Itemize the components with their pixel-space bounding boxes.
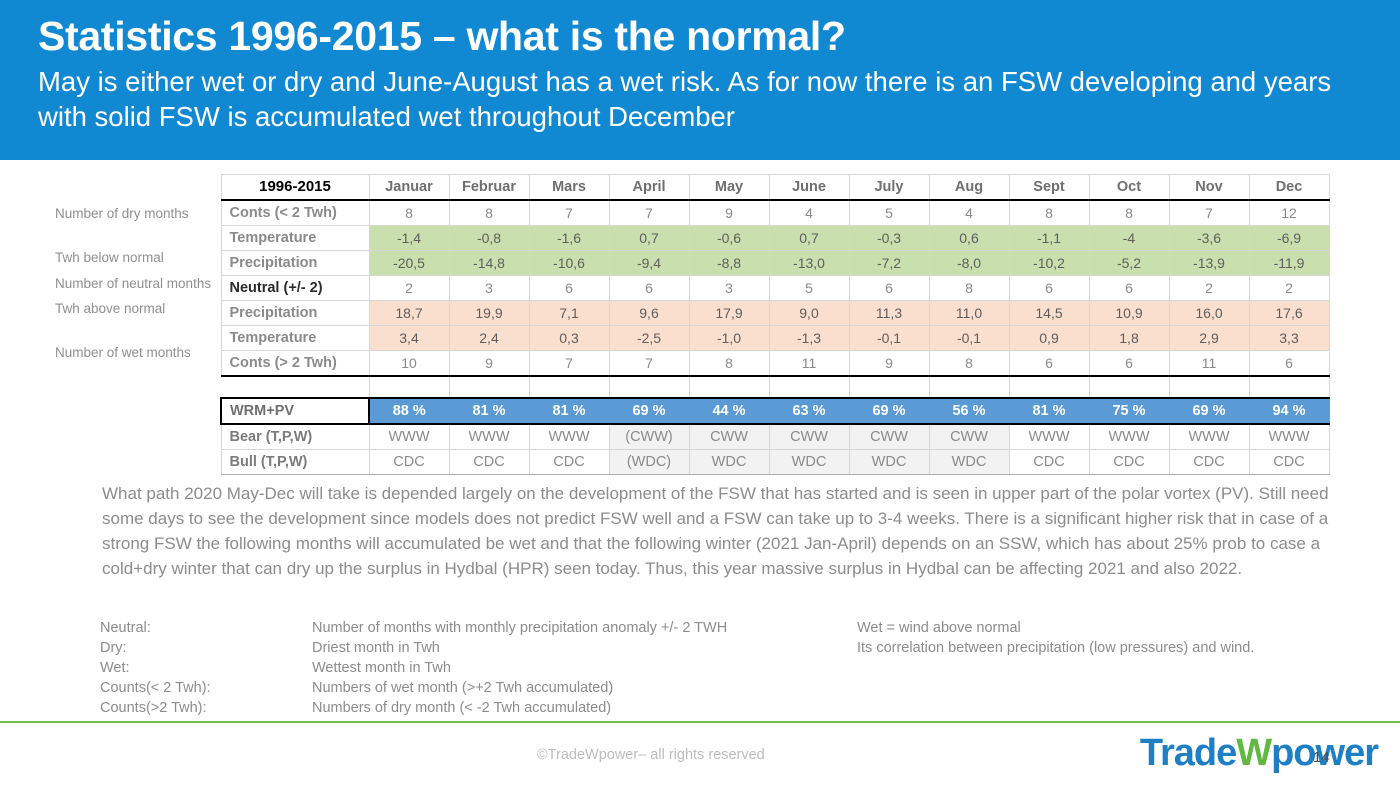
cell: -14,8 bbox=[449, 251, 529, 276]
spacer-cell bbox=[849, 376, 929, 398]
legend-term: Dry: bbox=[100, 638, 312, 658]
cell: 0,9 bbox=[1009, 326, 1089, 351]
cell: 3,3 bbox=[1249, 326, 1329, 351]
legend-note bbox=[857, 678, 1350, 698]
cell: 4 bbox=[769, 200, 849, 226]
legend-term: Counts(>2 Twh): bbox=[100, 698, 312, 718]
cell: -1,4 bbox=[369, 226, 449, 251]
row-label-temperature-above: Temperature bbox=[221, 326, 369, 351]
cell: -6,9 bbox=[1249, 226, 1329, 251]
cell: 5 bbox=[769, 276, 849, 301]
cell: -10,6 bbox=[529, 251, 609, 276]
legend-note bbox=[857, 658, 1350, 678]
cell: 7 bbox=[609, 200, 689, 226]
tradewpower-logo: TradeWpower bbox=[1140, 734, 1378, 772]
cell: -0,6 bbox=[689, 226, 769, 251]
legend-term: Neutral: bbox=[100, 618, 312, 638]
cell: 2,9 bbox=[1169, 326, 1249, 351]
legend-definition: Numbers of wet month (>+2 Twh accumulate… bbox=[312, 678, 857, 698]
cell: -1,6 bbox=[529, 226, 609, 251]
cell: 6 bbox=[529, 276, 609, 301]
annotation-twh-below: Twh below normal bbox=[55, 250, 164, 265]
table-header-row: 1996-2015 Januar Februar Mars April May … bbox=[221, 175, 1329, 201]
cell: 8 bbox=[449, 200, 529, 226]
cell: 17,9 bbox=[689, 301, 769, 326]
cell: 19,9 bbox=[449, 301, 529, 326]
legend-term: Wet: bbox=[100, 658, 312, 678]
cell: 18,7 bbox=[369, 301, 449, 326]
cell: 0,7 bbox=[769, 226, 849, 251]
cell: 12 bbox=[1249, 200, 1329, 226]
cell: 0,6 bbox=[929, 226, 1009, 251]
cell: 2 bbox=[369, 276, 449, 301]
bear-value: CWW bbox=[769, 424, 849, 450]
wrm-value: 75 % bbox=[1089, 398, 1169, 424]
bull-value: CDC bbox=[1249, 450, 1329, 475]
cell: -10,2 bbox=[1009, 251, 1089, 276]
wrm-value: 69 % bbox=[1169, 398, 1249, 424]
table-row: Conts (< 2 Twh) 8 8 7 7 9 4 5 4 8 8 7 12 bbox=[221, 200, 1329, 226]
cell: 0,7 bbox=[609, 226, 689, 251]
cell: 8 bbox=[1089, 200, 1169, 226]
cell: 4 bbox=[929, 200, 1009, 226]
bear-value: CWW bbox=[929, 424, 1009, 450]
cell: -0,3 bbox=[849, 226, 929, 251]
legend-block: Neutral: Number of months with monthly p… bbox=[100, 618, 1350, 718]
wrm-value: 94 % bbox=[1249, 398, 1329, 424]
page-subtitle: May is either wet or dry and June-August… bbox=[38, 65, 1368, 134]
legend-item: Wet: Wettest month in Twh bbox=[100, 658, 1350, 678]
cell: -0,1 bbox=[929, 326, 1009, 351]
wrm-value: 44 % bbox=[689, 398, 769, 424]
row-label-bull: Bull (T,P,W) bbox=[221, 450, 369, 475]
cell: 6 bbox=[1009, 276, 1089, 301]
spacer-cell bbox=[221, 376, 369, 398]
cell: 10,9 bbox=[1089, 301, 1169, 326]
row-label-wrm-pv: WRM+PV bbox=[221, 398, 369, 424]
row-label-bear: Bear (T,P,W) bbox=[221, 424, 369, 450]
table-row: Precipitation -20,5 -14,8 -10,6 -9,4 -8,… bbox=[221, 251, 1329, 276]
row-label-conts-gt2: Conts (> 2 Twh) bbox=[221, 351, 369, 377]
cell: 3 bbox=[449, 276, 529, 301]
legend-item: Counts(>2 Twh): Numbers of dry month (< … bbox=[100, 698, 1350, 718]
cell: -3,6 bbox=[1169, 226, 1249, 251]
cell: 8 bbox=[689, 351, 769, 377]
legend-item: Neutral: Number of months with monthly p… bbox=[100, 618, 1350, 638]
bull-value: CDC bbox=[529, 450, 609, 475]
cell: 7 bbox=[529, 351, 609, 377]
page-title: Statistics 1996-2015 – what is the norma… bbox=[38, 14, 1400, 60]
bear-value: WWW bbox=[449, 424, 529, 450]
slide: Statistics 1996-2015 – what is the norma… bbox=[0, 0, 1400, 788]
cell: -2,5 bbox=[609, 326, 689, 351]
cell: 11 bbox=[1169, 351, 1249, 377]
cell: 5 bbox=[849, 200, 929, 226]
legend-note bbox=[857, 698, 1350, 718]
column-header-july: July bbox=[849, 175, 929, 201]
cell: 10 bbox=[369, 351, 449, 377]
cell: 3,4 bbox=[369, 326, 449, 351]
cell: -11,9 bbox=[1249, 251, 1329, 276]
spacer-cell bbox=[1089, 376, 1169, 398]
cell: 9 bbox=[849, 351, 929, 377]
cell: -0,1 bbox=[849, 326, 929, 351]
cell: 0,3 bbox=[529, 326, 609, 351]
spacer-cell bbox=[1009, 376, 1089, 398]
table-row: Temperature 3,4 2,4 0,3 -2,5 -1,0 -1,3 -… bbox=[221, 326, 1329, 351]
cell: -20,5 bbox=[369, 251, 449, 276]
cell: 1,8 bbox=[1089, 326, 1169, 351]
column-header-mars: Mars bbox=[529, 175, 609, 201]
cell: 14,5 bbox=[1009, 301, 1089, 326]
legend-term: Counts(< 2 Twh): bbox=[100, 678, 312, 698]
slide-header: Statistics 1996-2015 – what is the norma… bbox=[0, 0, 1400, 160]
cell: 9,0 bbox=[769, 301, 849, 326]
column-header-aug: Aug bbox=[929, 175, 1009, 201]
cell: 8 bbox=[929, 351, 1009, 377]
bull-value: WDC bbox=[769, 450, 849, 475]
cell: 6 bbox=[1009, 351, 1089, 377]
legend-note: Wet = wind above normal bbox=[857, 618, 1350, 638]
spacer-cell bbox=[689, 376, 769, 398]
column-header-sept: Sept bbox=[1009, 175, 1089, 201]
bear-value: WWW bbox=[1169, 424, 1249, 450]
cell: 3 bbox=[689, 276, 769, 301]
bear-value: WWW bbox=[369, 424, 449, 450]
cell: -0,8 bbox=[449, 226, 529, 251]
annotation-dry-months: Number of dry months bbox=[55, 206, 189, 221]
cell: 9,6 bbox=[609, 301, 689, 326]
cell: 8 bbox=[1009, 200, 1089, 226]
legend-definition: Driest month in Twh bbox=[312, 638, 857, 658]
legend-item: Counts(< 2 Twh): Numbers of wet month (>… bbox=[100, 678, 1350, 698]
cell: -7,2 bbox=[849, 251, 929, 276]
row-label-conts-lt2: Conts (< 2 Twh) bbox=[221, 200, 369, 226]
cell: 16,0 bbox=[1169, 301, 1249, 326]
column-header-june: June bbox=[769, 175, 849, 201]
cell: 8 bbox=[929, 276, 1009, 301]
column-header-oct: Oct bbox=[1089, 175, 1169, 201]
cell: 2 bbox=[1169, 276, 1249, 301]
wrm-value: 88 % bbox=[369, 398, 449, 424]
row-label-temperature-below: Temperature bbox=[221, 226, 369, 251]
cell: -13,0 bbox=[769, 251, 849, 276]
legend-definition: Number of months with monthly precipitat… bbox=[312, 618, 857, 638]
table-row-bull: Bull (T,P,W) CDC CDC CDC (WDC) WDC WDC W… bbox=[221, 450, 1329, 475]
wrm-value: 81 % bbox=[529, 398, 609, 424]
bull-value: (WDC) bbox=[609, 450, 689, 475]
cell: -13,9 bbox=[1169, 251, 1249, 276]
table-row-bear: Bear (T,P,W) WWW WWW WWW (CWW) CWW CWW C… bbox=[221, 424, 1329, 450]
cell: -1,3 bbox=[769, 326, 849, 351]
cell: -8,0 bbox=[929, 251, 1009, 276]
table-row: Precipitation 18,7 19,9 7,1 9,6 17,9 9,0… bbox=[221, 301, 1329, 326]
bear-value: WWW bbox=[1249, 424, 1329, 450]
table-row-wrm-pv: WRM+PV 88 % 81 % 81 % 69 % 44 % 63 % 69 … bbox=[221, 398, 1329, 424]
body-paragraph: What path 2020 May-Dec will take is depe… bbox=[102, 482, 1332, 582]
cell: 6 bbox=[849, 276, 929, 301]
cell: 6 bbox=[1089, 276, 1169, 301]
spacer-cell bbox=[769, 376, 849, 398]
column-header-januar: Januar bbox=[369, 175, 449, 201]
spacer-cell bbox=[529, 376, 609, 398]
wrm-value: 56 % bbox=[929, 398, 1009, 424]
bear-value: WWW bbox=[1089, 424, 1169, 450]
wrm-value: 81 % bbox=[1009, 398, 1089, 424]
cell: 6 bbox=[1089, 351, 1169, 377]
column-header-februar: Februar bbox=[449, 175, 529, 201]
cell: 6 bbox=[609, 276, 689, 301]
wrm-value: 69 % bbox=[609, 398, 689, 424]
logo-w-icon: W bbox=[1236, 732, 1271, 774]
column-header-nov: Nov bbox=[1169, 175, 1249, 201]
bull-value: CDC bbox=[1009, 450, 1089, 475]
bull-value: CDC bbox=[1169, 450, 1249, 475]
page-number: 14 bbox=[1313, 749, 1330, 766]
column-header-may: May bbox=[689, 175, 769, 201]
cell: 17,6 bbox=[1249, 301, 1329, 326]
cell: 7 bbox=[1169, 200, 1249, 226]
table-corner-label: 1996-2015 bbox=[221, 175, 369, 201]
spacer-cell bbox=[449, 376, 529, 398]
spacer-cell bbox=[929, 376, 1009, 398]
cell: 9 bbox=[449, 351, 529, 377]
cell: 2,4 bbox=[449, 326, 529, 351]
cell: -4 bbox=[1089, 226, 1169, 251]
bull-value: CDC bbox=[369, 450, 449, 475]
table-row: Conts (> 2 Twh) 10 9 7 7 8 11 9 8 6 6 11… bbox=[221, 351, 1329, 377]
copyright-text: ©TradeWpower– all rights reserved bbox=[537, 747, 765, 763]
cell: 6 bbox=[1249, 351, 1329, 377]
cell: 7 bbox=[529, 200, 609, 226]
row-label-neutral: Neutral (+/- 2) bbox=[221, 276, 369, 301]
legend-definition: Numbers of dry month (< -2 Twh accumulat… bbox=[312, 698, 857, 718]
bull-value: WDC bbox=[689, 450, 769, 475]
cell: -8,8 bbox=[689, 251, 769, 276]
cell: 7,1 bbox=[529, 301, 609, 326]
wrm-value: 81 % bbox=[449, 398, 529, 424]
legend-definition: Wettest month in Twh bbox=[312, 658, 857, 678]
table-row: Temperature -1,4 -0,8 -1,6 0,7 -0,6 0,7 … bbox=[221, 226, 1329, 251]
cell: -1,0 bbox=[689, 326, 769, 351]
spacer-cell bbox=[369, 376, 449, 398]
cell: 7 bbox=[609, 351, 689, 377]
row-annotation-group: Number of dry months Twh below normal Nu… bbox=[0, 172, 220, 372]
annotation-wet-months: Number of wet months bbox=[55, 345, 191, 360]
bull-value: CDC bbox=[449, 450, 529, 475]
table-spacer-row bbox=[221, 376, 1329, 398]
statistics-table: 1996-2015 Januar Februar Mars April May … bbox=[220, 174, 1330, 475]
wrm-value: 69 % bbox=[849, 398, 929, 424]
annotation-neutral-months: Number of neutral months bbox=[55, 276, 211, 291]
cell: 11,3 bbox=[849, 301, 929, 326]
cell: -5,2 bbox=[1089, 251, 1169, 276]
column-header-april: April bbox=[609, 175, 689, 201]
cell: 11 bbox=[769, 351, 849, 377]
cell: -1,1 bbox=[1009, 226, 1089, 251]
annotation-twh-above: Twh above normal bbox=[55, 301, 165, 316]
spacer-cell bbox=[1169, 376, 1249, 398]
row-label-precipitation-below: Precipitation bbox=[221, 251, 369, 276]
logo-text-trade: Trade bbox=[1140, 732, 1236, 774]
row-label-precipitation-above: Precipitation bbox=[221, 301, 369, 326]
bear-value: WWW bbox=[529, 424, 609, 450]
legend-item: Dry: Driest month in Twh Its correlation… bbox=[100, 638, 1350, 658]
cell: -9,4 bbox=[609, 251, 689, 276]
footer-divider bbox=[0, 721, 1400, 723]
bear-value: CWW bbox=[689, 424, 769, 450]
cell: 9 bbox=[689, 200, 769, 226]
spacer-cell bbox=[609, 376, 689, 398]
bull-value: CDC bbox=[1089, 450, 1169, 475]
table-row: Neutral (+/- 2) 2 3 6 6 3 5 6 8 6 6 2 2 bbox=[221, 276, 1329, 301]
bear-value: (CWW) bbox=[609, 424, 689, 450]
cell: 11,0 bbox=[929, 301, 1009, 326]
bull-value: WDC bbox=[929, 450, 1009, 475]
spacer-cell bbox=[1249, 376, 1329, 398]
cell: 2 bbox=[1249, 276, 1329, 301]
wrm-value: 63 % bbox=[769, 398, 849, 424]
bear-value: CWW bbox=[849, 424, 929, 450]
bull-value: WDC bbox=[849, 450, 929, 475]
bear-value: WWW bbox=[1009, 424, 1089, 450]
legend-note: Its correlation between precipitation (l… bbox=[857, 638, 1350, 658]
column-header-dec: Dec bbox=[1249, 175, 1329, 201]
cell: 8 bbox=[369, 200, 449, 226]
